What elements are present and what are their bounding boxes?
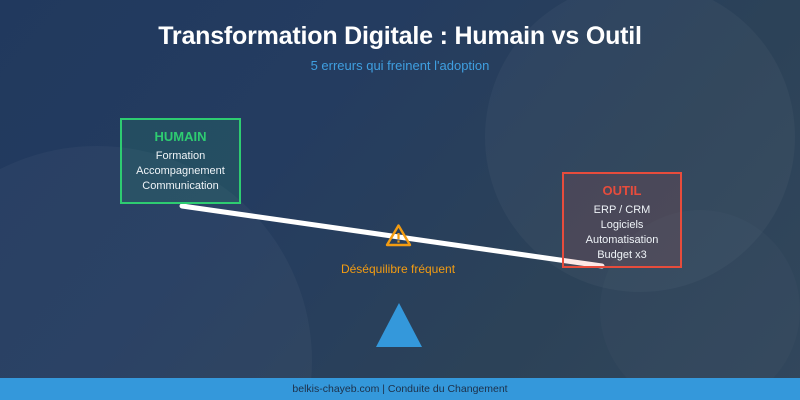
panel-humain-line: Communication [122,179,239,194]
panel-humain-line: Accompagnement [122,164,239,179]
fulcrum-triangle [376,303,422,347]
panel-outil-line: Budget x3 [564,248,680,263]
warning-triangle-icon [385,223,412,248]
footer-text: belkis-chayeb.com | Conduite du Changeme… [292,383,507,395]
panel-humain[interactable]: HUMAIN Formation Accompagnement Communic… [120,118,241,204]
panel-outil-line: Logiciels [564,218,680,233]
panel-outil-line: Automatisation [564,233,680,248]
footer-bar: belkis-chayeb.com | Conduite du Changeme… [0,378,800,400]
infographic-canvas: Transformation Digitale : Humain vs Outi… [0,0,800,400]
panel-humain-title: HUMAIN [122,129,239,144]
panel-humain-line: Formation [122,149,239,164]
panel-outil-line: ERP / CRM [564,203,680,218]
panel-outil[interactable]: OUTIL ERP / CRM Logiciels Automatisation… [562,172,682,268]
panel-outil-title: OUTIL [564,183,680,198]
warning-caption: Déséquilibre fréquent [298,262,498,276]
